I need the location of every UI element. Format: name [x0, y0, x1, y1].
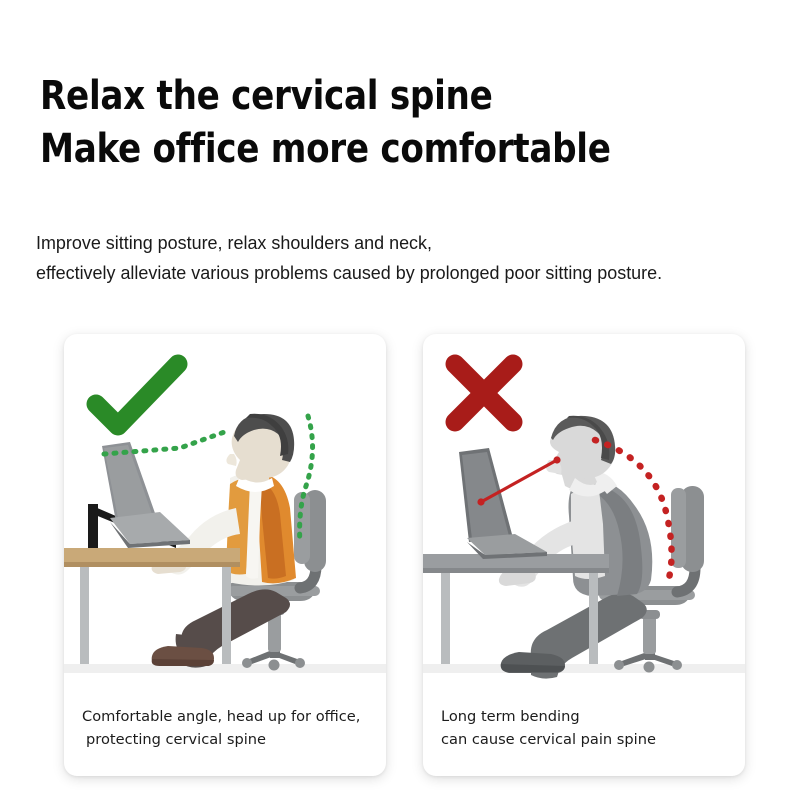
page-title: Relax the cervical spine Make office mor… — [40, 70, 770, 176]
subtitle-line-2: effectively alleviate various problems c… — [36, 258, 754, 288]
headline-line-1: Relax the cervical spine — [40, 70, 734, 123]
hunched-sitting-posture-illustration — [423, 412, 745, 698]
card-good-posture[interactable]: Comfortable angle, head up for office, p… — [64, 334, 386, 776]
headline-line-2: Make office more comfortable — [40, 123, 734, 176]
caption-good-posture: Comfortable angle, head up for office, p… — [82, 706, 376, 751]
caption-line-1: Long term bending — [441, 706, 735, 729]
subtitle-line-1: Improve sitting posture, relax shoulders… — [36, 228, 754, 258]
card-bad-posture[interactable]: Long term bending can cause cervical pai… — [423, 334, 745, 776]
upright-sitting-posture-illustration — [64, 412, 386, 698]
caption-line-2: can cause cervical pain spine — [441, 729, 735, 752]
caption-bad-posture: Long term bending can cause cervical pai… — [441, 706, 735, 751]
poster-root: Relax the cervical spine Make office mor… — [0, 0, 800, 800]
caption-line-1: Comfortable angle, head up for office, — [82, 706, 376, 729]
page-subtitle: Improve sitting posture, relax shoulders… — [36, 228, 776, 288]
caption-line-2: protecting cervical spine — [82, 729, 376, 752]
